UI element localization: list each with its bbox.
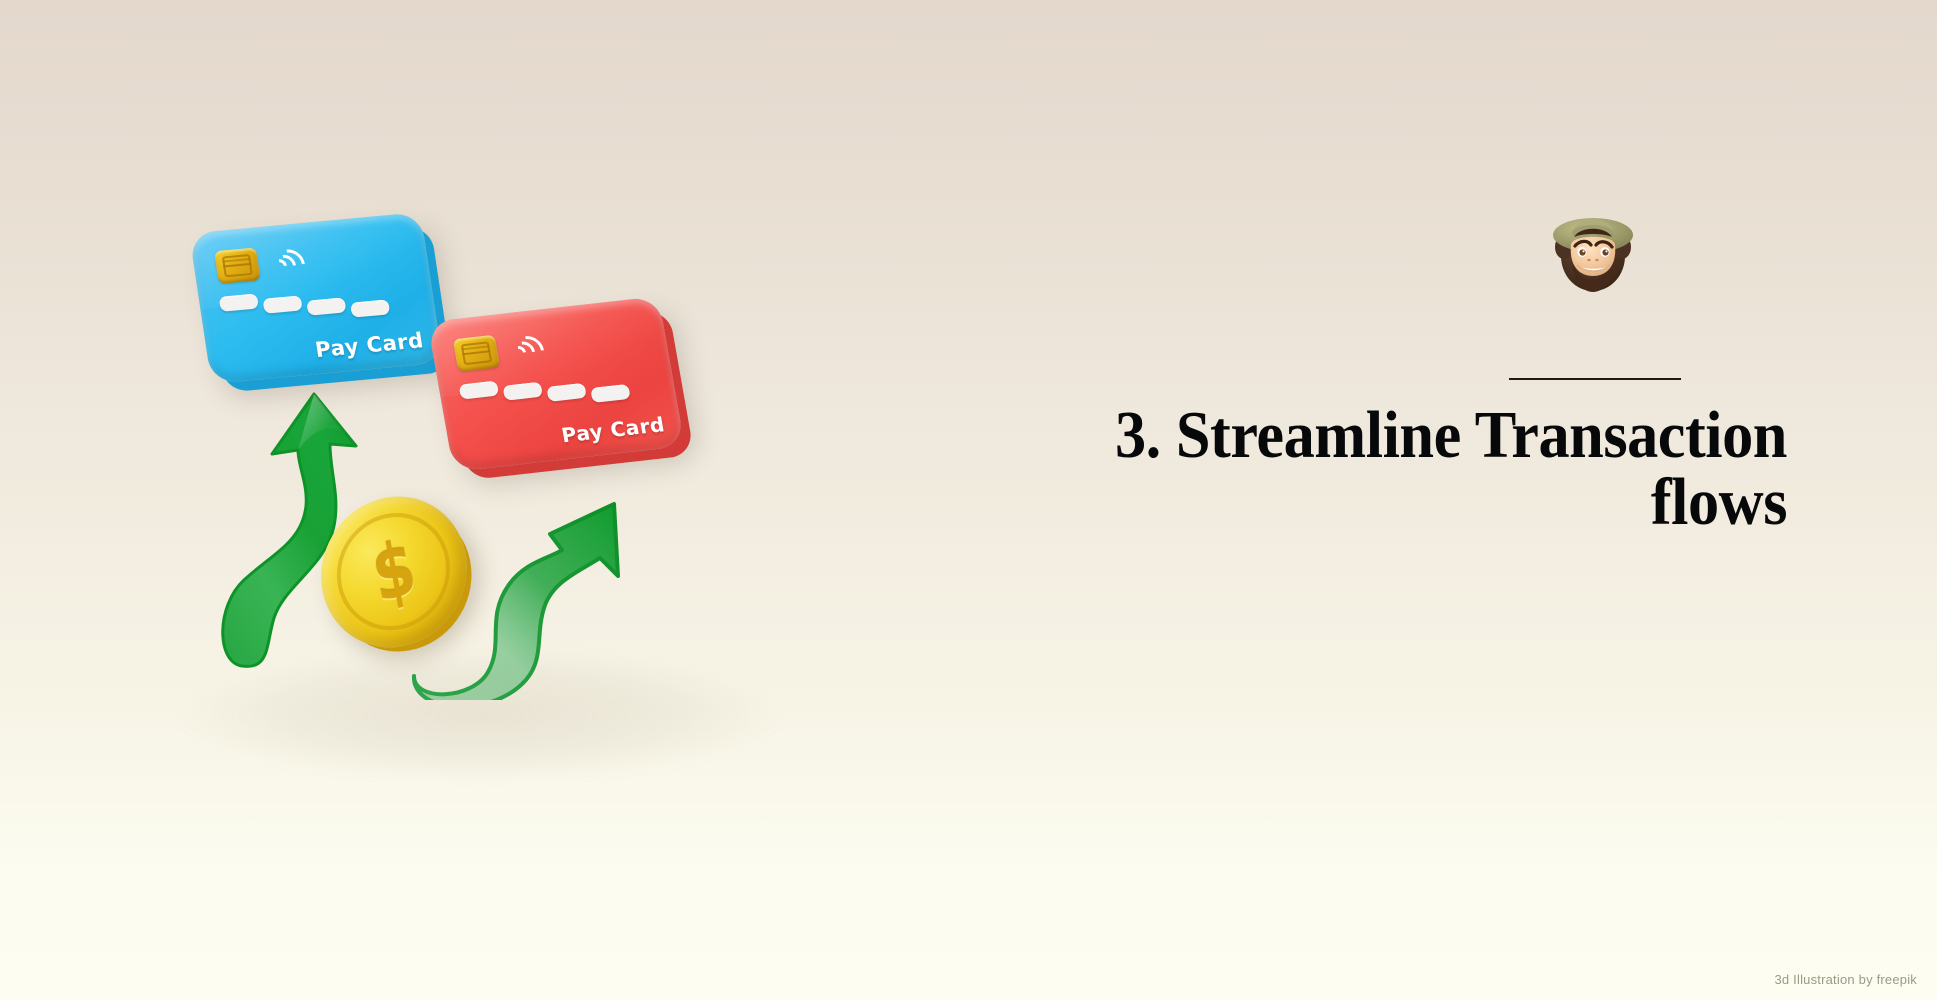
- pay-card-red: Pay Card: [427, 296, 684, 472]
- card-label-blue: Pay Card: [314, 328, 426, 362]
- card-number-block: [459, 381, 499, 400]
- headline-line-2: flows: [1052, 469, 1787, 536]
- card-number-block: [546, 383, 586, 402]
- dollar-sign-icon: $: [321, 482, 466, 661]
- transaction-flow-illustration: Pay Card Pay Card: [150, 180, 870, 800]
- slide-canvas: Pay Card Pay Card: [0, 0, 1937, 1000]
- card-label-red: Pay Card: [560, 412, 667, 447]
- card-chip-icon: [214, 247, 261, 284]
- contactless-nfc-icon: [268, 245, 305, 280]
- card-chip-icon: [453, 335, 501, 372]
- card-surface-blue: Pay Card: [189, 212, 443, 384]
- headline-line-1: 3. Streamline Transaction: [1052, 402, 1787, 469]
- card-number-block: [350, 299, 390, 317]
- content-panel: 3. Streamline Transaction flows: [997, 0, 1937, 1000]
- headline-divider: [1509, 378, 1681, 380]
- contactless-nfc-icon: [507, 332, 544, 367]
- card-number-block: [590, 384, 630, 403]
- card-number-block: [306, 297, 346, 315]
- card-number-block: [503, 382, 543, 401]
- page-title: 3. Streamline Transaction flows: [1052, 402, 1787, 536]
- card-number-block: [263, 295, 303, 313]
- pay-card-blue: Pay Card: [189, 212, 443, 384]
- card-number-block: [219, 293, 259, 311]
- monkey-avatar: [1534, 190, 1652, 308]
- gold-coin: $: [320, 498, 468, 646]
- card-surface-red: Pay Card: [427, 296, 684, 472]
- attribution-text: 3d Illustration by freepik: [1775, 972, 1918, 987]
